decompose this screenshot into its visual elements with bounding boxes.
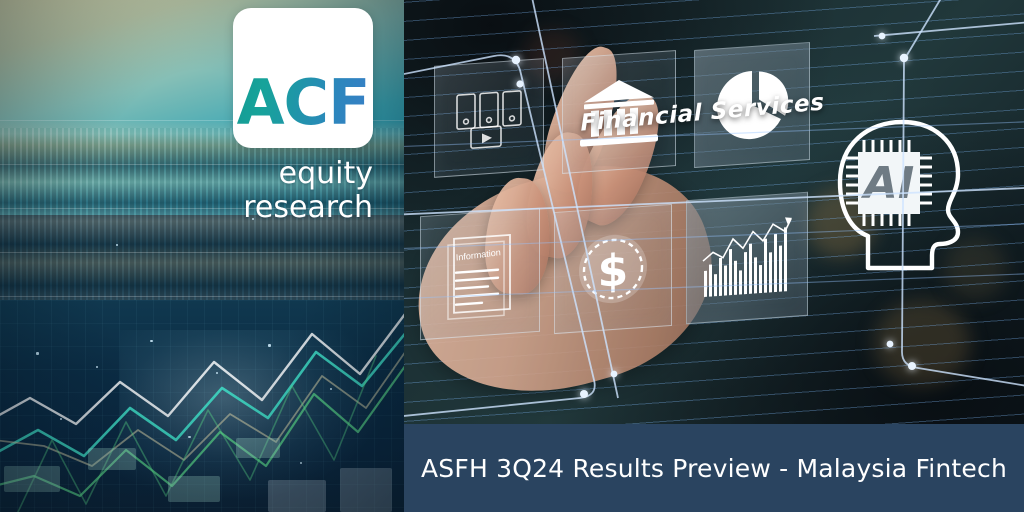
logo-tagline-line2: research xyxy=(180,192,373,223)
banner-left-filler xyxy=(0,424,404,512)
logo-tagline-line1: equity xyxy=(180,158,373,189)
acf-logo-mark: ACF xyxy=(233,72,373,134)
hud-frame xyxy=(404,0,1024,424)
hero-right-image: Information xyxy=(404,0,1024,424)
poster-canvas: ACF equity research xyxy=(0,0,1024,512)
title-banner: ASFH 3Q24 Results Preview - Malaysia Fin… xyxy=(404,424,1024,512)
acf-logo-card: ACF xyxy=(233,8,373,148)
banner-title: ASFH 3Q24 Results Preview - Malaysia Fin… xyxy=(421,454,1007,483)
